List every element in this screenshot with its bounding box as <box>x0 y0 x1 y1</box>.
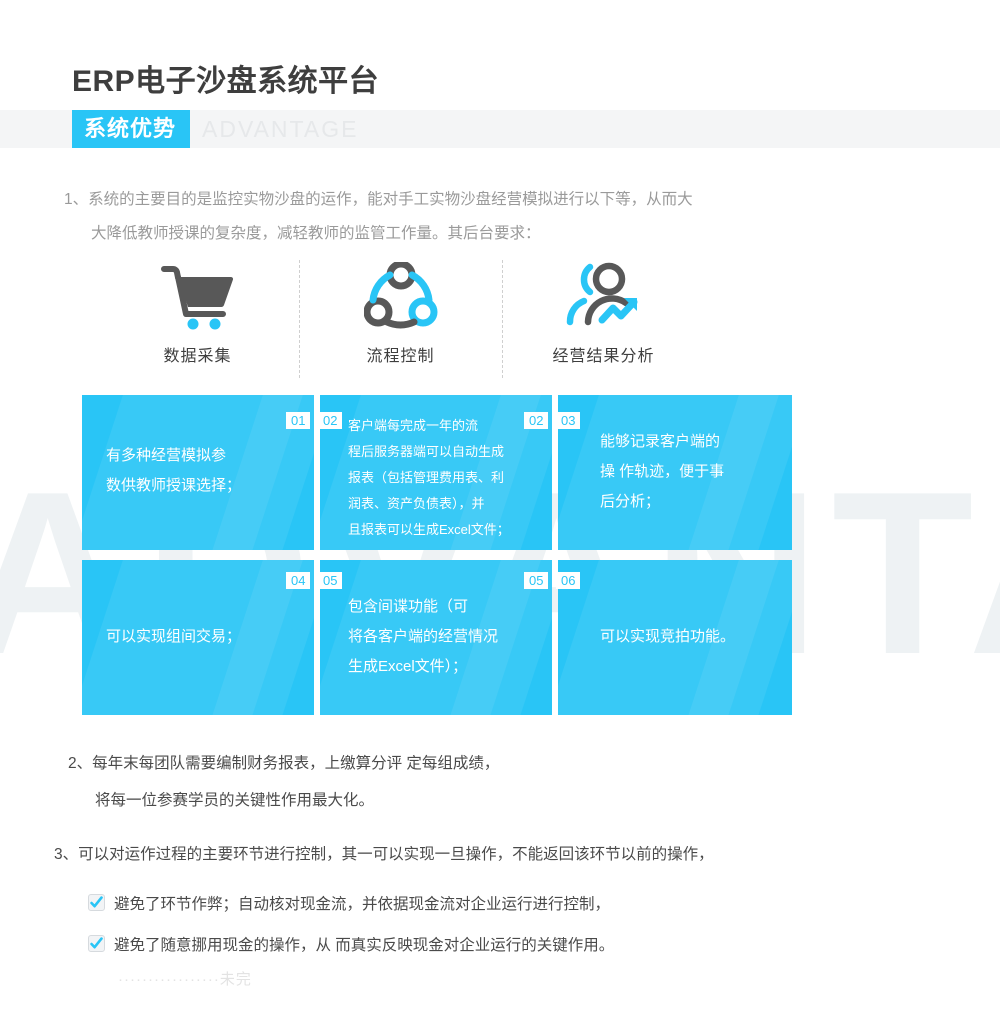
advantage-card-2[interactable]: 客户端每完成一年的流 程后服务器端可以自动生成 报表（包括管理费用表、利 润表、… <box>320 395 552 550</box>
user-analytics-icon <box>564 258 644 336</box>
card-text-line: 生成Excel文件）； <box>348 652 552 682</box>
check-icon <box>88 894 105 911</box>
feature-item-process-control[interactable]: 流程控制 <box>299 258 502 378</box>
card-text-line: 报表（包括管理费用表、利 <box>348 465 552 491</box>
paragraph-2-line-2: 将每一位参赛学员的关键性作用最大化。 <box>68 782 928 819</box>
card-text-line: 可以实现组间交易； <box>106 622 314 652</box>
feature-label: 流程控制 <box>366 342 434 366</box>
section-en-label: ADVANTAGE <box>202 110 358 148</box>
card-text-line: 客户端每完成一年的流 <box>348 413 552 439</box>
card-text-line: 操 作轨迹，便于事 <box>600 457 792 487</box>
paragraph-2-line-1: 2、每年末每团队需要编制财务报表，上缴算分评 定每组成绩， <box>68 755 499 772</box>
shopping-cart-icon <box>161 258 235 336</box>
card-text-line: 包含间谍功能（可 <box>348 592 552 622</box>
card-text-line: 将各客户端的经营情况 <box>348 622 552 652</box>
page-title: ERP电子沙盘系统平台 <box>72 56 379 100</box>
card-text-line: 且报表可以生成Excel文件； <box>348 517 552 543</box>
check-icon <box>88 935 105 952</box>
card-text-line: 能够记录客户端的 <box>600 427 792 457</box>
card-text: 可以实现竞拍功能。 <box>600 622 792 652</box>
section-divider <box>185 110 190 148</box>
card-text-line: 后分析； <box>600 487 792 517</box>
advantage-card-grid: 有多种经营模拟参 数供教师授课选择； 客户端每完成一年的流 程后服务器端可以自动… <box>82 395 792 715</box>
card-text: 有多种经营模拟参 数供教师授课选择； <box>106 441 314 501</box>
paragraph-1-line-1: 1、系统的主要目的是监控实物沙盘的运作，能对手工实物沙盘经营模拟进行以下等，从而… <box>64 191 693 208</box>
card-number-badge-05: 05 <box>318 572 342 589</box>
feature-label: 数据采集 <box>163 342 231 366</box>
card-text-line: 有多种经营模拟参 <box>106 441 314 471</box>
advantage-card-6[interactable]: 可以实现竞拍功能。 <box>558 560 792 715</box>
section-tag-label: 系统优势 <box>72 110 188 148</box>
advantage-card-3[interactable]: 能够记录客户端的 操 作轨迹，便于事 后分析； <box>558 395 792 550</box>
advantage-card-1[interactable]: 有多种经营模拟参 数供教师授课选择； <box>82 395 314 550</box>
card-number-badge-04: 04 <box>286 572 310 589</box>
card-number-badge-06: 06 <box>556 572 580 589</box>
advantage-card-5[interactable]: 包含间谍功能（可 将各客户端的经营情况 生成Excel文件）； <box>320 560 552 715</box>
feature-label: 经营结果分析 <box>552 342 654 366</box>
paragraph-1-line-2: 大降低教师授课的复杂度，减轻教师的监管工作量。其后台要求： <box>64 217 924 251</box>
footer-note: ·················未完 <box>118 968 252 989</box>
card-number-badge-02: 02 <box>318 412 342 429</box>
paragraph-2: 2、每年末每团队需要编制财务报表，上缴算分评 定每组成绩， 将每一位参赛学员的关… <box>68 745 928 819</box>
card-number-badge-01: 01 <box>286 412 310 429</box>
card-text-line: 润表、资产负债表），并 <box>348 491 552 517</box>
slide-page: ADVANTAGE ERP电子沙盘系统平台 系统优势 ADVANTAGE 1、系… <box>0 0 1000 1024</box>
advantage-card-4[interactable]: 可以实现组间交易； <box>82 560 314 715</box>
card-number-badge-05b: 05 <box>524 572 548 589</box>
card-number-badge-03: 03 <box>556 412 580 429</box>
bullet-item: 避免了随意挪用现金的操作，从 而真实反映现金对企业运行的关键作用。 <box>88 923 968 964</box>
paragraph-1: 1、系统的主要目的是监控实物沙盘的运作，能对手工实物沙盘经营模拟进行以下等，从而… <box>64 183 924 251</box>
feature-item-data-collection[interactable]: 数据采集 <box>96 258 299 378</box>
card-text-line: 程后服务器端可以自动生成 <box>348 439 552 465</box>
card-text-line: 可以实现竞拍功能。 <box>600 622 792 652</box>
paragraph-3: 3、可以对运作过程的主要环节进行控制，其一可以实现一旦操作，不能返回该环节以前的… <box>54 840 954 870</box>
card-text: 可以实现组间交易； <box>106 622 314 652</box>
card-number-badge-02b: 02 <box>524 412 548 429</box>
card-text: 包含间谍功能（可 将各客户端的经营情况 生成Excel文件）； <box>348 592 552 682</box>
paragraph-3-bullets: 避免了环节作弊；自动核对现金流，并依据现金流对企业运行进行控制， 避免了随意挪用… <box>88 882 968 964</box>
bullet-text: 避免了环节作弊；自动核对现金流，并依据现金流对企业运行进行控制， <box>114 892 610 914</box>
process-cycle-icon <box>364 258 438 336</box>
feature-item-result-analysis[interactable]: 经营结果分析 <box>502 258 705 378</box>
feature-list: 数据采集 流程控制 <box>96 258 706 378</box>
card-text: 能够记录客户端的 操 作轨迹，便于事 后分析； <box>600 427 792 517</box>
card-text: 客户端每完成一年的流 程后服务器端可以自动生成 报表（包括管理费用表、利 润表、… <box>348 413 552 543</box>
bullet-item: 避免了环节作弊；自动核对现金流，并依据现金流对企业运行进行控制， <box>88 882 968 923</box>
card-text-line: 数供教师授课选择； <box>106 471 314 501</box>
bullet-text: 避免了随意挪用现金的操作，从 而真实反映现金对企业运行的关键作用。 <box>114 933 614 955</box>
